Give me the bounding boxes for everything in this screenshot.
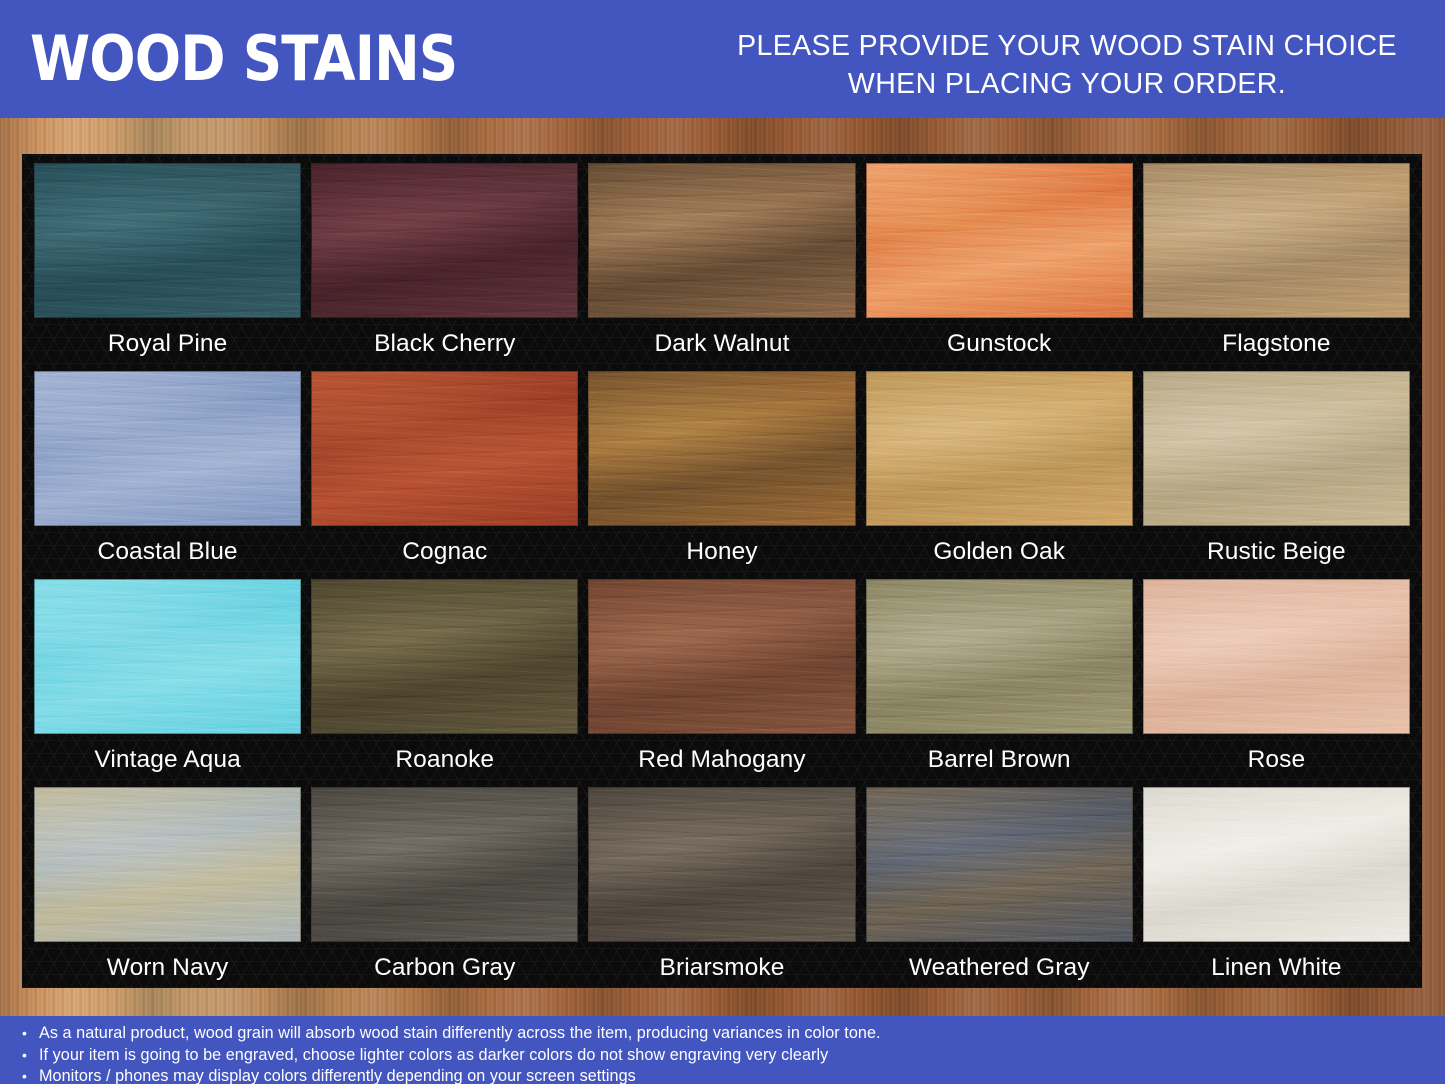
- stain-color-swatch[interactable]: [34, 579, 301, 734]
- stain-swatch-cell[interactable]: Gunstock: [866, 163, 1133, 371]
- stain-swatch-cell[interactable]: Coastal Blue: [34, 371, 301, 579]
- footer-note-item: •Monitors / phones may display colors di…: [22, 1066, 1445, 1084]
- stain-color-swatch[interactable]: [866, 163, 1133, 318]
- footer-disclaimer-bar: •As a natural product, wood grain will a…: [0, 1016, 1445, 1084]
- stain-name-label: Coastal Blue: [98, 526, 238, 579]
- footer-note-text: Monitors / phones may display colors dif…: [39, 1066, 636, 1084]
- wood-stain-chart-page: WOOD STAINS PLEASE PROVIDE YOUR WOOD STA…: [0, 0, 1445, 1084]
- stain-swatch-cell[interactable]: Roanoke: [311, 579, 578, 787]
- stain-name-label: Rose: [1248, 734, 1306, 787]
- stain-name-label: Red Mahogany: [638, 734, 805, 787]
- stain-swatch-cell[interactable]: Briarsmoke: [588, 787, 855, 995]
- footer-note-list: •As a natural product, wood grain will a…: [22, 1023, 1445, 1084]
- stain-color-swatch[interactable]: [311, 787, 578, 942]
- stain-swatch-grid: Royal PineBlack CherryDark WalnutGunstoc…: [34, 163, 1410, 982]
- stain-swatch-cell[interactable]: Black Cherry: [311, 163, 578, 371]
- stain-color-swatch[interactable]: [311, 579, 578, 734]
- stain-swatch-cell[interactable]: Royal Pine: [34, 163, 301, 371]
- stain-name-label: Royal Pine: [108, 318, 227, 371]
- stain-color-swatch[interactable]: [34, 787, 301, 942]
- order-instruction-note: PLEASE PROVIDE YOUR WOOD STAIN CHOICE WH…: [727, 27, 1407, 103]
- stain-color-swatch[interactable]: [1143, 163, 1410, 318]
- stain-swatch-cell[interactable]: Carbon Gray: [311, 787, 578, 995]
- stain-color-swatch[interactable]: [1143, 579, 1410, 734]
- stain-color-swatch[interactable]: [1143, 787, 1410, 942]
- footer-note-item: •As a natural product, wood grain will a…: [22, 1023, 1445, 1045]
- stain-color-swatch[interactable]: [588, 579, 855, 734]
- stain-name-label: Gunstock: [947, 318, 1051, 371]
- bullet-icon: •: [22, 1023, 39, 1045]
- stain-color-swatch[interactable]: [311, 163, 578, 318]
- stain-color-swatch[interactable]: [588, 371, 855, 526]
- header-bar: WOOD STAINS PLEASE PROVIDE YOUR WOOD STA…: [0, 0, 1445, 118]
- stain-name-label: Flagstone: [1222, 318, 1331, 371]
- stain-color-swatch[interactable]: [588, 787, 855, 942]
- stain-name-label: Rustic Beige: [1207, 526, 1346, 579]
- stain-swatch-cell[interactable]: Rustic Beige: [1143, 371, 1410, 579]
- order-instruction-line-2: WHEN PLACING YOUR ORDER.: [727, 65, 1407, 103]
- stain-name-label: Vintage Aqua: [94, 734, 241, 787]
- stain-name-label: Carbon Gray: [374, 942, 515, 995]
- stain-name-label: Black Cherry: [374, 318, 515, 371]
- stain-color-swatch[interactable]: [34, 163, 301, 318]
- stain-color-swatch[interactable]: [866, 787, 1133, 942]
- stain-swatch-cell[interactable]: Red Mahogany: [588, 579, 855, 787]
- stain-swatch-cell[interactable]: Flagstone: [1143, 163, 1410, 371]
- stain-swatch-cell[interactable]: Honey: [588, 371, 855, 579]
- page-title: WOOD STAINS: [30, 24, 457, 94]
- stain-swatch-cell[interactable]: Worn Navy: [34, 787, 301, 995]
- order-instruction-line-1: PLEASE PROVIDE YOUR WOOD STAIN CHOICE: [737, 30, 1397, 62]
- stain-name-label: Linen White: [1211, 942, 1341, 995]
- bullet-icon: •: [22, 1045, 39, 1067]
- stain-name-label: Barrel Brown: [928, 734, 1071, 787]
- stain-swatch-cell[interactable]: Cognac: [311, 371, 578, 579]
- stain-name-label: Weathered Gray: [909, 942, 1090, 995]
- footer-note-text: If your item is going to be engraved, ch…: [39, 1045, 828, 1067]
- stain-color-swatch[interactable]: [866, 371, 1133, 526]
- bullet-icon: •: [22, 1066, 39, 1084]
- footer-note-item: •If your item is going to be engraved, c…: [22, 1045, 1445, 1067]
- stain-name-label: Dark Walnut: [655, 318, 790, 371]
- stain-swatch-cell[interactable]: Golden Oak: [866, 371, 1133, 579]
- stain-name-label: Golden Oak: [933, 526, 1065, 579]
- stain-name-label: Worn Navy: [107, 942, 229, 995]
- stain-swatch-cell[interactable]: Vintage Aqua: [34, 579, 301, 787]
- stain-name-label: Honey: [686, 526, 757, 579]
- stain-color-swatch[interactable]: [1143, 371, 1410, 526]
- stain-color-swatch[interactable]: [311, 371, 578, 526]
- stain-swatch-cell[interactable]: Barrel Brown: [866, 579, 1133, 787]
- stain-color-swatch[interactable]: [866, 579, 1133, 734]
- stain-swatch-cell[interactable]: Weathered Gray: [866, 787, 1133, 995]
- stain-name-label: Roanoke: [395, 734, 494, 787]
- stain-swatch-cell[interactable]: Linen White: [1143, 787, 1410, 995]
- stain-color-swatch[interactable]: [34, 371, 301, 526]
- stain-swatch-cell[interactable]: Dark Walnut: [588, 163, 855, 371]
- footer-note-text: As a natural product, wood grain will ab…: [39, 1023, 881, 1045]
- stain-color-swatch[interactable]: [588, 163, 855, 318]
- stain-swatch-board: Royal PineBlack CherryDark WalnutGunstoc…: [22, 154, 1422, 988]
- stain-name-label: Briarsmoke: [660, 942, 785, 995]
- stain-name-label: Cognac: [402, 526, 487, 579]
- stain-swatch-cell[interactable]: Rose: [1143, 579, 1410, 787]
